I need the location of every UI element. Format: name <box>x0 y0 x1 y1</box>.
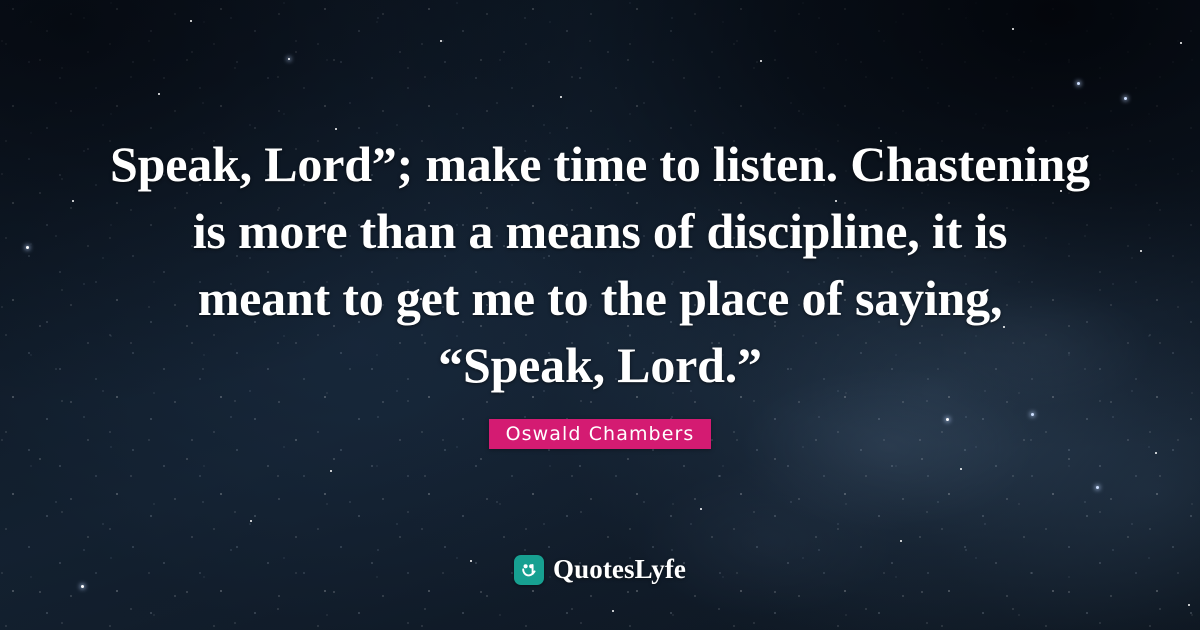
quote-line-3: meant to get me to the place of saying, <box>0 265 1200 332</box>
quote-mark-icon <box>514 555 544 585</box>
brand-name: QuotesLyfe <box>553 554 686 585</box>
brand-footer[interactable]: QuotesLyfe <box>0 554 1200 585</box>
quote-line-1: Speak, Lord”; make time to listen. Chast… <box>0 131 1200 198</box>
author-name-badge[interactable]: Oswald Chambers <box>489 419 712 449</box>
quote-line-2: is more than a means of discipline, it i… <box>0 198 1200 265</box>
quote-line-4: “Speak, Lord.” <box>0 332 1200 399</box>
quote-text-block: Speak, Lord”; make time to listen. Chast… <box>0 131 1200 399</box>
author-badge-container: Oswald Chambers <box>0 419 1200 449</box>
quote-image-canvas: Speak, Lord”; make time to listen. Chast… <box>0 0 1200 630</box>
